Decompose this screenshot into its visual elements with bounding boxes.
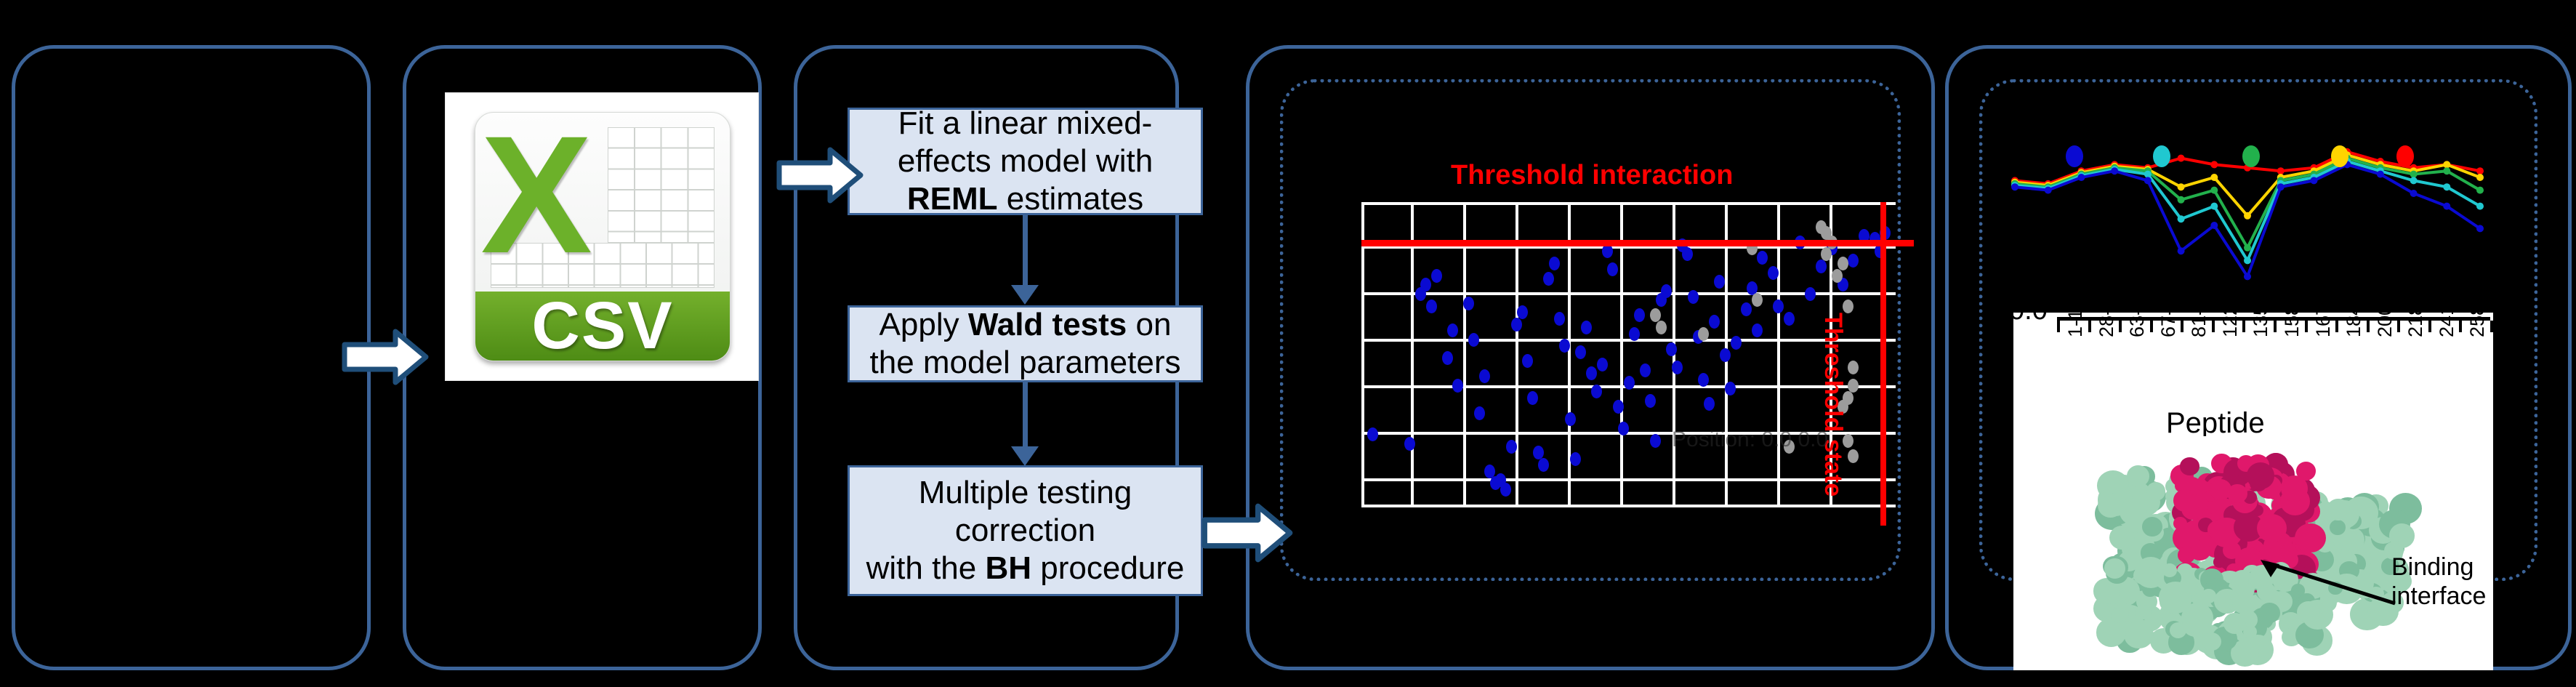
scatter-point bbox=[1506, 440, 1517, 454]
connector-line-2 bbox=[1023, 382, 1028, 446]
protein-surface-blob bbox=[2202, 632, 2221, 651]
scatter-point bbox=[1848, 449, 1859, 463]
legend-dot bbox=[2066, 145, 2083, 167]
legend-dot bbox=[2242, 145, 2260, 167]
peptide-tick-label: 63-73 bbox=[2126, 287, 2149, 337]
peptide-y-tick-label: 0.0 bbox=[2009, 295, 2048, 326]
peptide-marker bbox=[2045, 187, 2052, 194]
threshold-scatter-plot bbox=[1361, 202, 1896, 507]
peptide-tick bbox=[2088, 321, 2091, 332]
peptide-marker bbox=[2144, 171, 2152, 178]
protein-surface-blob bbox=[2180, 457, 2199, 475]
scatter-point bbox=[1640, 363, 1651, 377]
peptide-marker bbox=[2178, 247, 2185, 254]
peptide-marker bbox=[2178, 196, 2185, 204]
process-box-reml-text: Fit a linear mixed-effects model withREM… bbox=[898, 105, 1153, 218]
threshold-interaction-line bbox=[1361, 240, 1914, 246]
threshold-state-label: Threshold state bbox=[1819, 313, 1847, 497]
legend-dot bbox=[2153, 145, 2170, 167]
threshold-interaction-label: Threshold interaction bbox=[1451, 160, 1733, 191]
process-box-wald[interactable]: Apply Wald tests onthe model parameters bbox=[848, 305, 1203, 382]
peptide-tick-label: 135-144 bbox=[2250, 265, 2272, 337]
peptide-legend bbox=[2066, 145, 2429, 170]
scatter-point bbox=[1629, 327, 1640, 341]
protein-surface-blob bbox=[2109, 526, 2135, 550]
scatter-point bbox=[1581, 321, 1592, 334]
flow-arrow-3 bbox=[1201, 502, 1294, 564]
scatter-point bbox=[1688, 290, 1699, 304]
peptide-marker bbox=[2210, 174, 2218, 181]
peptide-marker bbox=[2277, 183, 2285, 190]
flow-arrow-1 bbox=[342, 327, 429, 387]
protein-surface-blob bbox=[2330, 520, 2346, 534]
binding-interface-label: Binding interface bbox=[2391, 553, 2486, 611]
scatter-point bbox=[1367, 427, 1378, 441]
peptide-marker bbox=[2410, 171, 2418, 178]
excel-x-letter: X bbox=[488, 118, 585, 271]
scatter-point bbox=[1517, 305, 1528, 319]
scatter-point bbox=[1848, 254, 1859, 268]
peptide-marker bbox=[2178, 215, 2185, 222]
peptide-marker bbox=[2410, 190, 2418, 197]
peptide-tick-label: 167-180 bbox=[2312, 265, 2335, 337]
peptide-tick bbox=[2367, 321, 2370, 332]
peptide-tick-label: 28-44 bbox=[2096, 287, 2118, 337]
peptide-marker bbox=[2178, 183, 2185, 190]
scatter-point bbox=[1474, 406, 1485, 420]
scatter-point bbox=[1768, 266, 1779, 280]
process-box-wald-text: Apply Wald tests onthe model parameters bbox=[870, 306, 1181, 382]
scatter-point bbox=[1666, 342, 1677, 356]
protein-surface-blob bbox=[2223, 613, 2246, 634]
peptide-tick bbox=[2212, 321, 2215, 332]
scatter-point bbox=[1554, 312, 1565, 326]
peptide-marker bbox=[2443, 167, 2450, 174]
csv-green-band: CSV bbox=[475, 292, 730, 361]
scatter-point bbox=[1549, 257, 1560, 270]
scatter-point bbox=[1757, 251, 1768, 265]
peptide-tick bbox=[2397, 321, 2400, 332]
peptide-marker bbox=[2443, 203, 2450, 210]
scatter-point bbox=[1720, 348, 1731, 362]
protein-surface-blob bbox=[2112, 607, 2129, 624]
peptide-tick-label: 258-266 bbox=[2466, 265, 2489, 337]
peptide-marker bbox=[2077, 174, 2085, 181]
binding-label-line2: interface bbox=[2391, 582, 2486, 611]
peptide-marker bbox=[2011, 183, 2018, 190]
peptide-marker bbox=[2377, 171, 2384, 178]
protein-surface-blob bbox=[2327, 499, 2350, 521]
csv-band-label: CSV bbox=[531, 288, 673, 361]
peptide-tick-label: 277-284 bbox=[2497, 265, 2520, 337]
scatter-axes-frame bbox=[1361, 202, 1896, 507]
peptide-marker bbox=[2210, 187, 2218, 194]
protein-surface-blob bbox=[2247, 462, 2275, 489]
flow-diagram: X CSV Fit a linear mixed-effects model w… bbox=[0, 0, 2576, 687]
peptide-tick-label: 122-129 bbox=[2219, 265, 2242, 337]
peptide-tick-label: 158-166 bbox=[2281, 265, 2303, 337]
scatter-point bbox=[1838, 257, 1848, 270]
peptide-tick-label: 81-101 bbox=[2188, 276, 2210, 337]
peptide-tick bbox=[2335, 321, 2338, 332]
scatter-point bbox=[1463, 297, 1474, 310]
scatter-point bbox=[1650, 434, 1661, 448]
scatter-point bbox=[1597, 358, 1608, 371]
peptide-tick bbox=[2305, 321, 2308, 332]
scatter-point bbox=[1672, 361, 1683, 374]
scatter-point bbox=[1832, 269, 1843, 283]
protein-surface-blob bbox=[2098, 493, 2123, 517]
peptide-marker bbox=[2244, 244, 2251, 252]
peptide-tick-label: 200-214 bbox=[2374, 265, 2396, 337]
connector-arrowhead-2 bbox=[1011, 446, 1039, 466]
peptide-marker bbox=[2210, 222, 2218, 229]
peptide-marker bbox=[2476, 174, 2484, 181]
scatter-point bbox=[1431, 269, 1442, 283]
scatter-point bbox=[1843, 300, 1853, 313]
protein-surface-blob bbox=[2104, 558, 2126, 579]
scatter-point bbox=[1565, 412, 1576, 426]
peptide-tick-label: 218-237 bbox=[2404, 265, 2427, 337]
peptide-marker bbox=[2210, 203, 2218, 210]
peptide-tick bbox=[2490, 321, 2493, 332]
scatter-point bbox=[1442, 351, 1453, 365]
protein-surface-blob bbox=[2227, 484, 2247, 503]
protein-surface-blob bbox=[2201, 589, 2216, 603]
csv-file-icon[interactable]: X CSV bbox=[446, 93, 758, 380]
scatter-faint-text: Position: 0.0 0.0 bbox=[1672, 427, 1828, 452]
scatter-point bbox=[1709, 315, 1720, 329]
peptide-axis-title: Peptide bbox=[2166, 407, 2265, 440]
scatter-point bbox=[1784, 312, 1795, 326]
scatter-point bbox=[1656, 321, 1667, 334]
peptide-marker bbox=[2443, 183, 2450, 190]
scatter-point bbox=[1527, 391, 1538, 405]
peptide-tick-label: 184-199 bbox=[2343, 265, 2365, 337]
scatter-point bbox=[1624, 376, 1635, 390]
peptide-marker bbox=[2244, 212, 2251, 220]
scatter-point bbox=[1645, 394, 1656, 408]
peptide-marker bbox=[2410, 177, 2418, 184]
peptide-tick bbox=[2428, 321, 2431, 332]
protein-surface-blob bbox=[2124, 621, 2154, 649]
legend-dot bbox=[2331, 145, 2348, 167]
csv-icon-body: X CSV bbox=[475, 112, 730, 361]
peptide-marker bbox=[2476, 167, 2484, 174]
binding-label-line1: Binding bbox=[2391, 553, 2486, 582]
protein-surface-blob bbox=[2213, 556, 2225, 567]
legend-dot bbox=[2396, 145, 2414, 167]
scatter-point bbox=[1848, 361, 1859, 374]
peptide-marker bbox=[2244, 257, 2251, 264]
scatter-point bbox=[1404, 437, 1415, 451]
csv-grid-upper bbox=[608, 127, 715, 244]
scatter-point bbox=[1704, 397, 1715, 411]
threshold-state-line bbox=[1880, 202, 1886, 526]
protein-surface-blob bbox=[2223, 542, 2241, 559]
peptide-tick bbox=[2459, 321, 2462, 332]
protein-surface-blob bbox=[2281, 475, 2308, 501]
process-box-bh-text: Multiple testingcorrectionwith the BH pr… bbox=[866, 474, 1185, 587]
protein-surface-blob bbox=[2146, 482, 2166, 501]
protein-surface-blob bbox=[2181, 603, 2213, 633]
protein-surface-blob bbox=[2127, 465, 2149, 487]
peptide-marker bbox=[2476, 203, 2484, 210]
connector-line-1 bbox=[1023, 215, 1028, 285]
panel-data-source bbox=[12, 45, 371, 670]
peptide-tick bbox=[2181, 321, 2183, 332]
scatter-point bbox=[1538, 458, 1549, 472]
peptide-tick bbox=[2150, 321, 2153, 332]
peptide-marker bbox=[2476, 225, 2484, 232]
flow-arrow-2 bbox=[776, 145, 864, 205]
protein-surface-blob bbox=[2120, 499, 2147, 525]
protein-surface-blob bbox=[2178, 547, 2195, 563]
process-box-reml[interactable]: Fit a linear mixed-effects model withREM… bbox=[848, 108, 1203, 215]
protein-surface-blob bbox=[2162, 563, 2177, 577]
scatter-point bbox=[1661, 284, 1672, 298]
peptide-tick-label: 67-75 bbox=[2157, 287, 2180, 337]
peptide-marker bbox=[2310, 177, 2317, 184]
peptide-tick bbox=[2057, 321, 2060, 332]
protein-surface-blob bbox=[2295, 523, 2326, 553]
connector-arrowhead-1 bbox=[1011, 285, 1039, 305]
process-box-bh[interactable]: Multiple testingcorrectionwith the BH pr… bbox=[848, 465, 1203, 596]
scatter-point bbox=[1426, 300, 1437, 313]
peptide-tick bbox=[2274, 321, 2277, 332]
binding-interface-arrow bbox=[2261, 560, 2399, 611]
peptide-tick bbox=[2119, 321, 2122, 332]
scatter-point bbox=[1731, 336, 1742, 350]
peptide-marker bbox=[2443, 161, 2450, 168]
peptide-tick-label: 1-15 bbox=[2064, 298, 2087, 337]
scatter-point bbox=[1570, 452, 1581, 466]
peptide-tick bbox=[2242, 321, 2245, 332]
scatter-point bbox=[1698, 327, 1709, 341]
peptide-marker bbox=[2144, 177, 2152, 184]
scatter-point bbox=[1698, 373, 1709, 387]
peptide-tick-label: 241-257 bbox=[2436, 265, 2458, 337]
peptide-marker bbox=[2476, 187, 2484, 194]
protein-surface-blob bbox=[2389, 523, 2415, 548]
scatter-point bbox=[1618, 422, 1629, 435]
